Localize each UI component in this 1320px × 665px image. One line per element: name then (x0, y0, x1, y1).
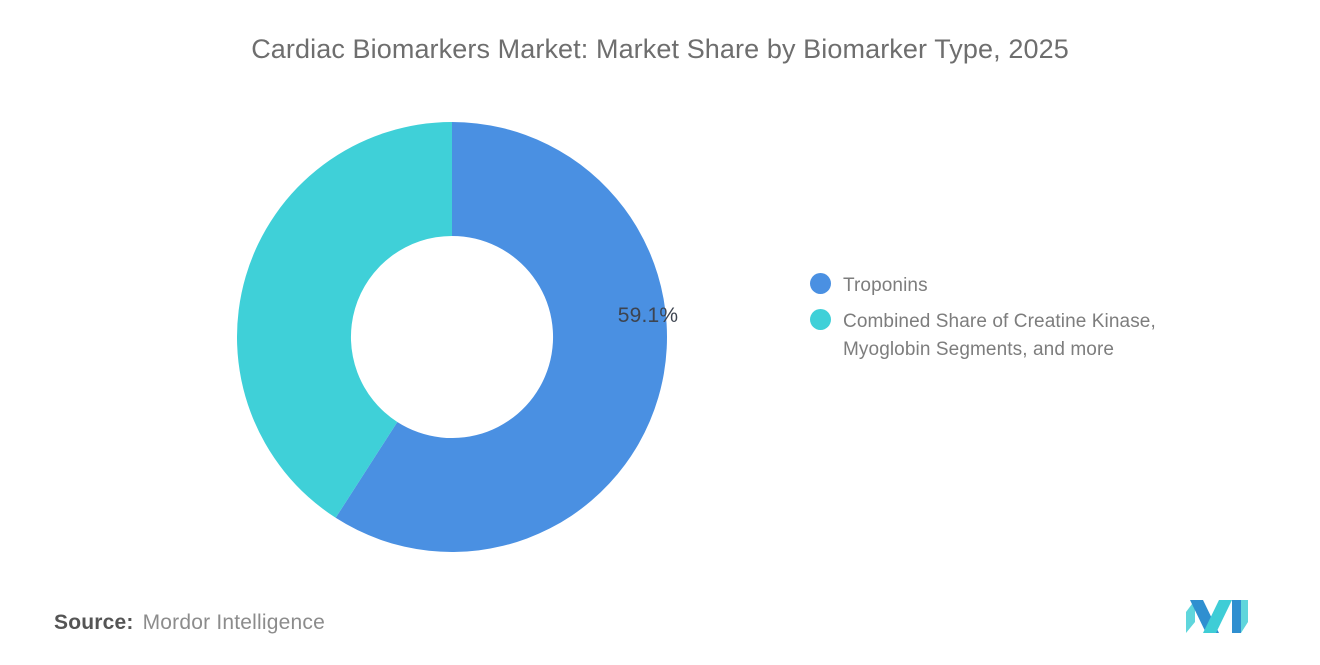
chart-legend: Troponins Combined Share of Creatine Kin… (810, 272, 1260, 372)
legend-swatch-circle-icon (810, 273, 831, 294)
donut-chart-svg (237, 122, 667, 552)
slice-data-label-troponins: 59.1% (593, 304, 703, 328)
legend-swatch-circle-icon (810, 309, 831, 330)
source-label: Source: (54, 611, 134, 635)
mi-monogram-icon (1186, 600, 1248, 634)
source-value: Mordor Intelligence (143, 611, 325, 635)
chart-canvas: Cardiac Biomarkers Market: Market Share … (0, 0, 1320, 665)
legend-item-label: Troponins (843, 272, 928, 300)
mordor-intelligence-logo-icon (1186, 600, 1248, 634)
source-attribution: Source: Mordor Intelligence (54, 611, 325, 635)
legend-item-combined-share[interactable]: Combined Share of Creatine Kinase, Myogl… (810, 308, 1260, 364)
page-title: Cardiac Biomarkers Market: Market Share … (0, 30, 1320, 68)
donut-chart: 59.1% (237, 122, 667, 552)
legend-item-label: Combined Share of Creatine Kinase, Myogl… (843, 308, 1235, 364)
legend-item-troponins[interactable]: Troponins (810, 272, 1260, 300)
